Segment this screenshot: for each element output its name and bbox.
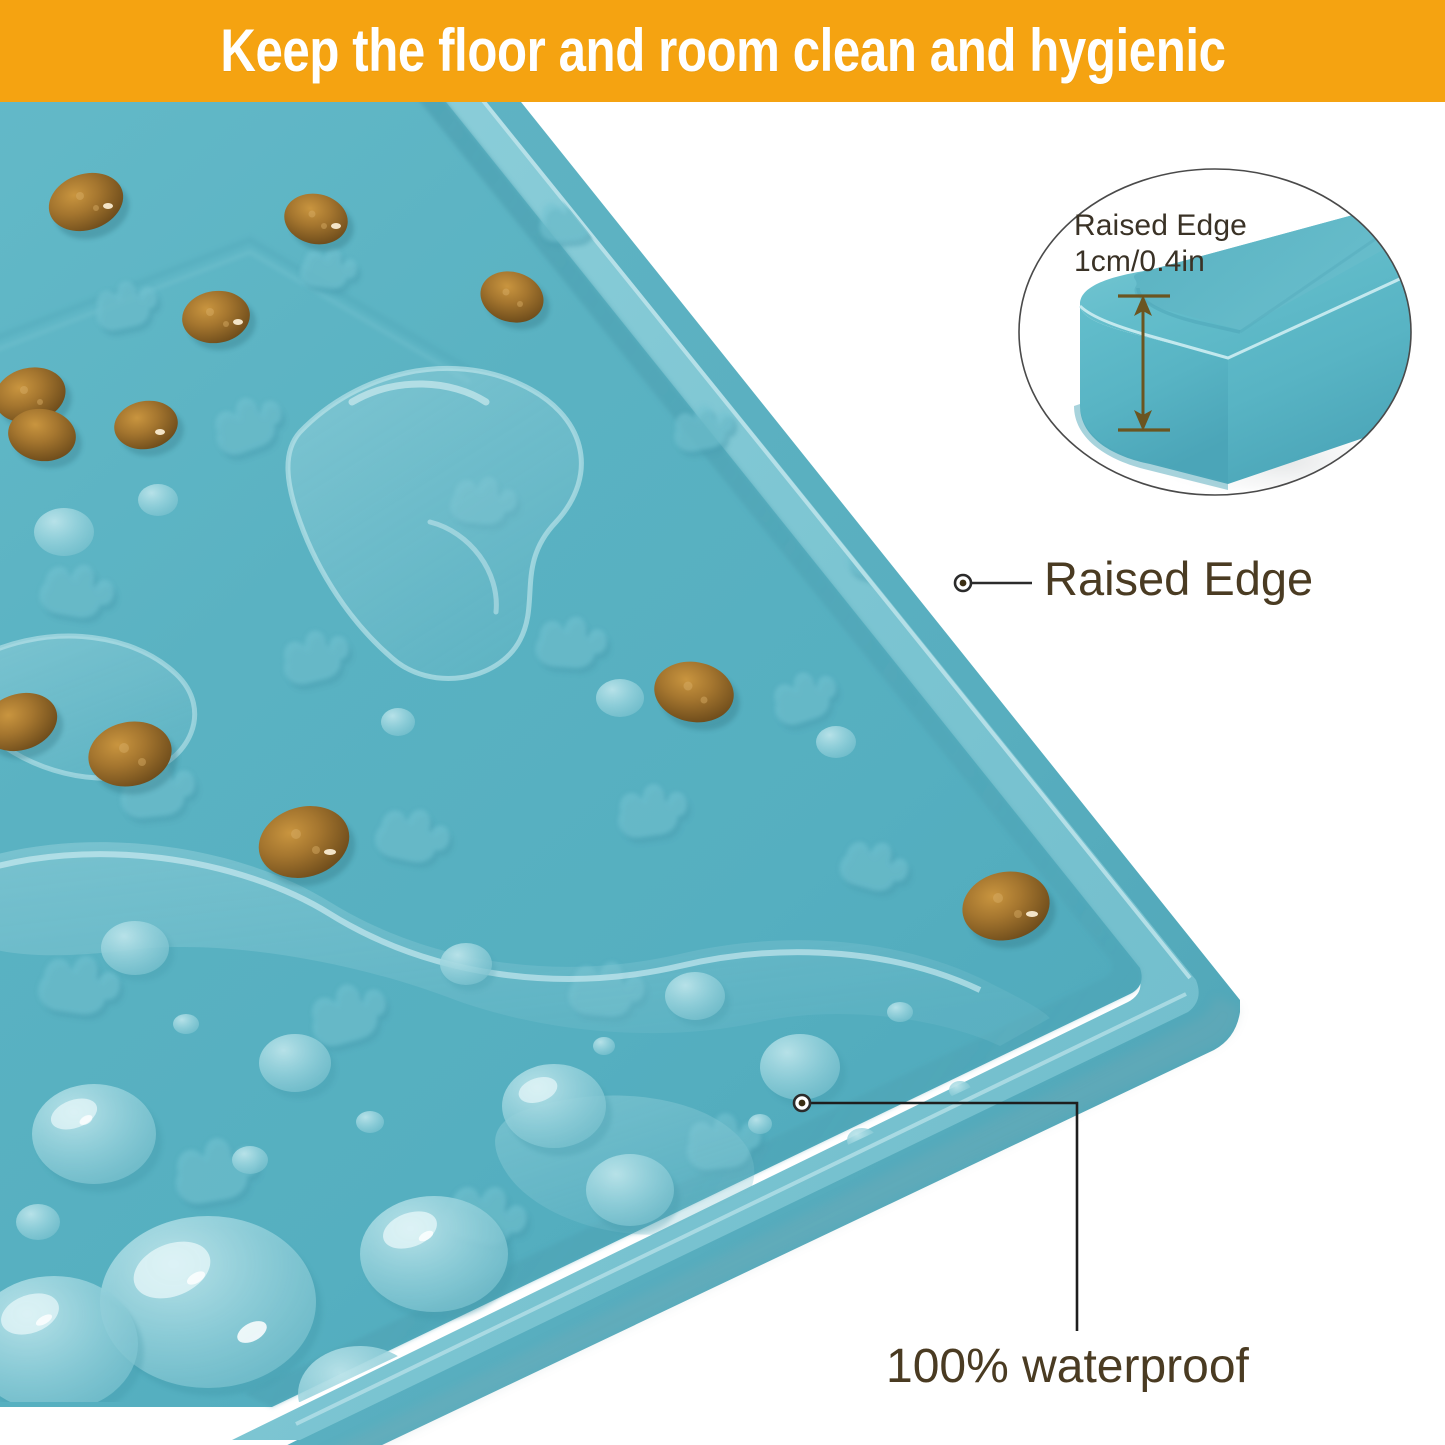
product-feature-image: Keep the floor and room clean and hygien… (0, 0, 1445, 1445)
headline-banner: Keep the floor and room clean and hygien… (0, 0, 1445, 102)
waterproof-leader-line (794, 1095, 1077, 1331)
callout-waterproof-label: 100% waterproof (886, 1343, 1249, 1391)
headline-text: Keep the floor and room clean and hygien… (220, 21, 1225, 81)
callout-waterproof: 100% waterproof (0, 0, 1445, 1445)
